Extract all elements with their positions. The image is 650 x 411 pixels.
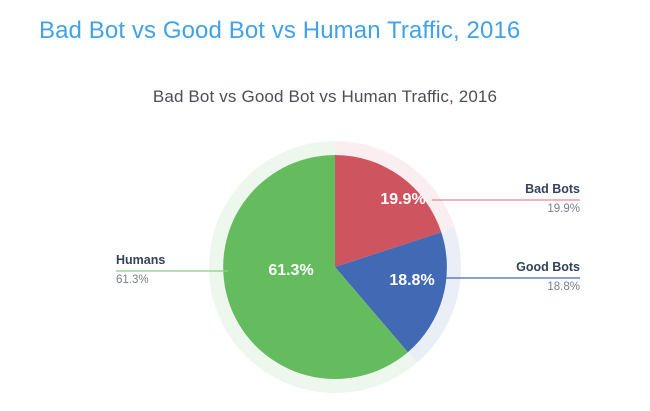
callout-label-humans: Humans [116,253,165,267]
callout-value-humans: 61.3% [116,274,149,286]
callout-label-bad-bots: Bad Bots [525,182,580,196]
pie-chart-container: Bad Bot vs Good Bot vs Human Traffic, 20… [0,62,650,411]
slice-value-good-bots: 18.8% [389,272,434,289]
slice-value-humans: 61.3% [268,262,313,279]
page-title: Bad Bot vs Good Bot vs Human Traffic, 20… [39,17,520,45]
callout-value-good-bots: 18.8% [547,281,580,293]
pie-chart-svg: 19.9% 18.8% 61.3% Bad Bots 19.9% Good Bo… [0,62,650,411]
slice-value-bad-bots: 19.9% [380,191,425,208]
callout-label-good-bots: Good Bots [516,260,580,274]
callout-value-bad-bots: 19.9% [547,203,580,215]
